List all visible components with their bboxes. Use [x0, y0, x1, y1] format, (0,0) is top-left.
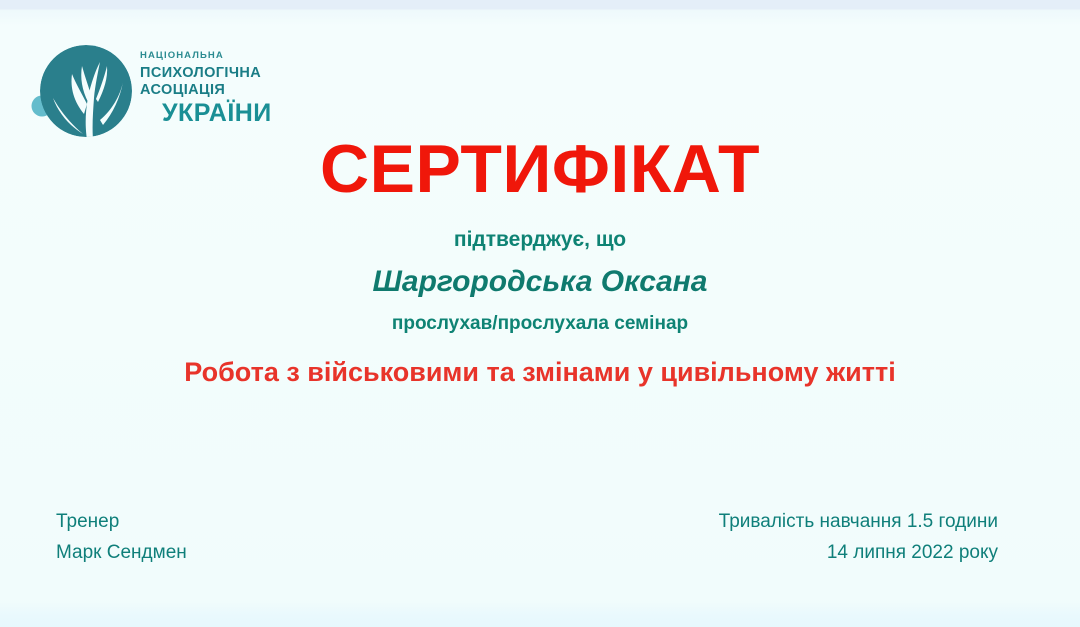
- logo-line-ukraine: УКРАЇНИ: [162, 100, 290, 127]
- course-date: 14 липня 2022 року: [719, 537, 998, 568]
- certificate-page: НАЦІОНАЛЬНА ПСИХОЛОГІЧНА АСОЦІАЦІЯ УКРАЇ…: [0, 0, 1080, 627]
- logo-line-national: НАЦІОНАЛЬНА: [140, 50, 290, 61]
- trainer-role-label: Тренер: [56, 506, 187, 537]
- association-logo: НАЦІОНАЛЬНА ПСИХОЛОГІЧНА АСОЦІАЦІЯ УКРАЇ…: [24, 28, 294, 146]
- trainer-block: Тренер Марк Сендмен: [56, 506, 187, 568]
- certificate-title: СЕРТИФІКАТ: [0, 131, 1080, 207]
- logo-line-association: АСОЦІАЦІЯ: [140, 82, 290, 99]
- course-details-block: Тривалість навчання 1.5 години 14 липня …: [719, 506, 998, 568]
- confirm-label: підтверджує, що: [0, 227, 1080, 253]
- recipient-name: Шаргородська Оксана: [0, 264, 1080, 300]
- seminar-title: Робота з військовими та змінами у цивіль…: [0, 355, 1080, 389]
- logo-line-psychological: ПСИХОЛОГІЧНА: [140, 65, 290, 82]
- logo-wordmark: НАЦІОНАЛЬНА ПСИХОЛОГІЧНА АСОЦІАЦІЯ УКРАЇ…: [140, 50, 290, 127]
- attended-label: прослухав/прослухала семінар: [0, 312, 1080, 336]
- npau-leaf-circle-logo-icon: [24, 28, 144, 143]
- trainer-name: Марк Сендмен: [56, 537, 187, 568]
- course-duration: Тривалість навчання 1.5 години: [719, 506, 998, 537]
